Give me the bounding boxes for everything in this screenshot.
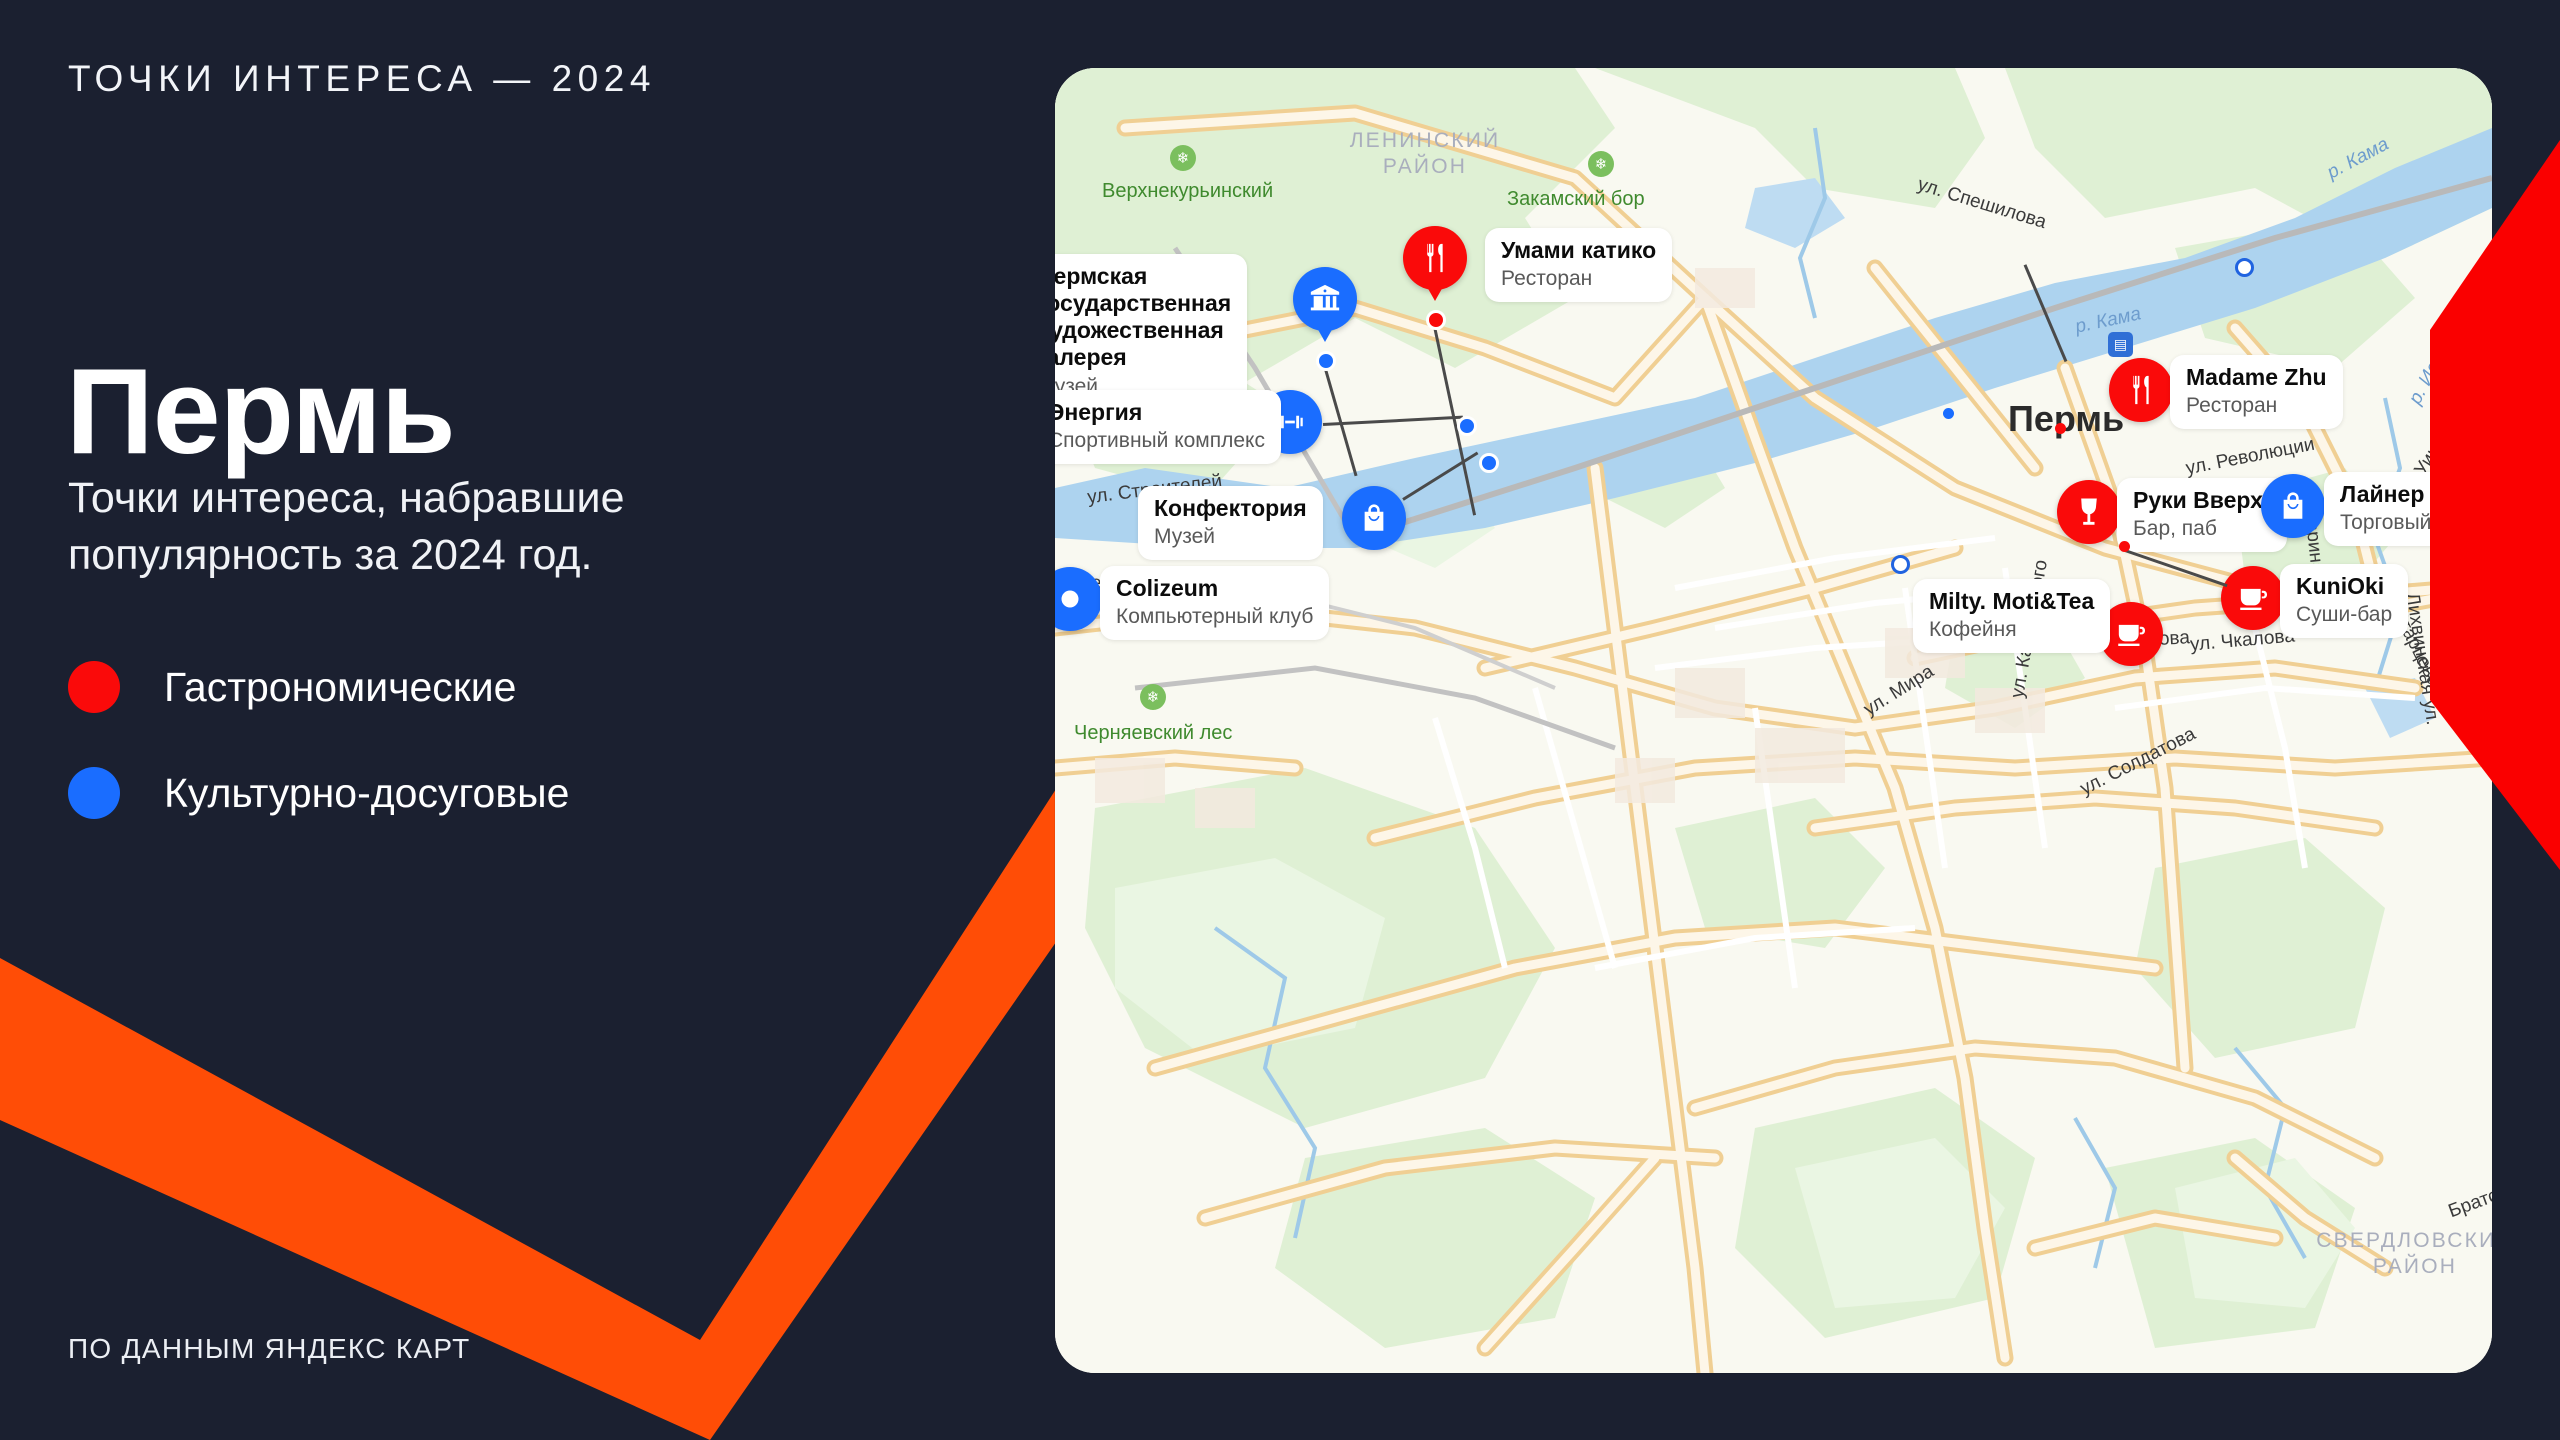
poi-pin-culture[interactable] [2261,474,2325,538]
poi-name: Умами катико [1501,237,1656,264]
poi-label-card[interactable]: Пермская государственная художественная … [1055,254,1247,410]
poi-category: Музей [1154,524,1307,549]
transit-marker-icon [2235,258,2254,277]
poi-anchor-dot [1316,351,1336,371]
poi-category: Ресторан [1501,266,1656,291]
wine-glass-icon [2072,495,2106,529]
poi-name: Пермская государственная художественная … [1055,263,1231,372]
poi-name: Milty. Moti&Tea [1929,588,2094,615]
page-subtitle: Точки интереса, набравшие популярность з… [68,470,848,584]
legend-item-gastro: Гастрономические [68,655,569,719]
poi-pin-gastro[interactable] [2057,480,2121,544]
poi-category: Компьютерный клуб [1116,604,1313,629]
poi-anchor-dot [1457,416,1477,436]
cutlery-icon [1418,241,1452,275]
poi-category: Бар, паб [2133,516,2271,541]
legend-dot-gastro-icon [68,661,120,713]
legend-item-culture: Культурно-досуговые [68,761,569,825]
page-title: Пермь [66,350,455,472]
poi-micro-dot-icon [1943,408,1954,419]
cup-icon [2114,617,2148,651]
poi-category: Спортивный комплекс [1055,428,1265,453]
cup-icon [2236,581,2270,615]
legend-dot-culture-icon [68,767,120,819]
poi-label-card[interactable]: Руки Вверх! Бар, паб [2117,478,2287,552]
poi-label-card[interactable]: Colizeum Компьютерный клуб [1100,566,1329,640]
poi-pin-culture[interactable] [1342,486,1406,550]
legend-label-gastro: Гастрономические [164,664,516,711]
poi-label-card[interactable]: Madame Zhu Ресторан [2170,355,2343,429]
transit-marker-icon [1891,555,1910,574]
shopping-bag-icon [1357,501,1391,535]
cutlery-icon [2124,373,2158,407]
poi-name: Конфектория [1154,495,1307,522]
park-paw-icon: ❄ [1170,145,1196,171]
poi-label-card[interactable]: Конфектория Музей [1138,486,1323,560]
poi-anchor-dot [1479,453,1499,473]
poi-pin-gastro[interactable] [2221,566,2285,630]
poi-category: Ресторан [2186,393,2327,418]
poi-category: Кофейня [1929,617,2094,642]
eyebrow-title: ТОЧКИ ИНТЕРЕСА — 2024 [68,58,656,100]
poi-name: Madame Zhu [2186,364,2327,391]
poi-name: Руки Вверх! [2133,487,2271,514]
poi-pin-gastro[interactable] [2109,358,2173,422]
poi-name: Лайнер [2340,481,2492,508]
poi-label-card[interactable]: Лайнер Торговый центр [2324,472,2492,546]
poi-category: Торговый центр [2340,510,2492,535]
poi-category: Суши-бар [2296,602,2392,627]
map-card[interactable]: ЛЕНИНСКИЙ РАЙОН СВЕРДЛОВСКИЙ РАЙОН ❄ Вер… [1055,68,2492,1373]
park-paw-icon: ❄ [1140,684,1166,710]
poi-name: KuniOki [2296,573,2392,600]
legend-label-culture: Культурно-досуговые [164,770,569,817]
museum-icon [1308,282,1342,316]
park-paw-icon: ❄ [1588,151,1614,177]
poi-label-card[interactable]: Энергия Спортивный комплекс [1055,390,1281,464]
map-canvas [1055,68,2492,1373]
poi-anchor-dot [2119,541,2130,552]
poi-anchor-dot [1426,310,1446,330]
poi-pin-culture[interactable] [1293,267,1357,331]
poi-label-card[interactable]: Умами катико Ресторан [1485,228,1672,302]
poi-micro-dot-icon [2055,423,2066,434]
legend: Гастрономические Культурно-досуговые [68,655,569,867]
circle-dot-icon [1055,582,1087,616]
source-note: ПО ДАННЫМ ЯНДЕКС КАРТ [68,1333,471,1365]
poi-label-card[interactable]: Milty. Moti&Tea Кофейня [1913,579,2110,653]
poi-label-card[interactable]: KuniOki Суши-бар [2280,564,2408,638]
shopping-bag-icon [2276,489,2310,523]
railway-station-icon: ▤ [2108,332,2133,357]
poi-pin-gastro[interactable] [1403,226,1467,290]
poi-name: Colizeum [1116,575,1313,602]
left-info-panel: ТОЧКИ ИНТЕРЕСА — 2024 Пермь Точки интере… [0,0,1040,1440]
poi-name: Энергия [1055,399,1265,426]
